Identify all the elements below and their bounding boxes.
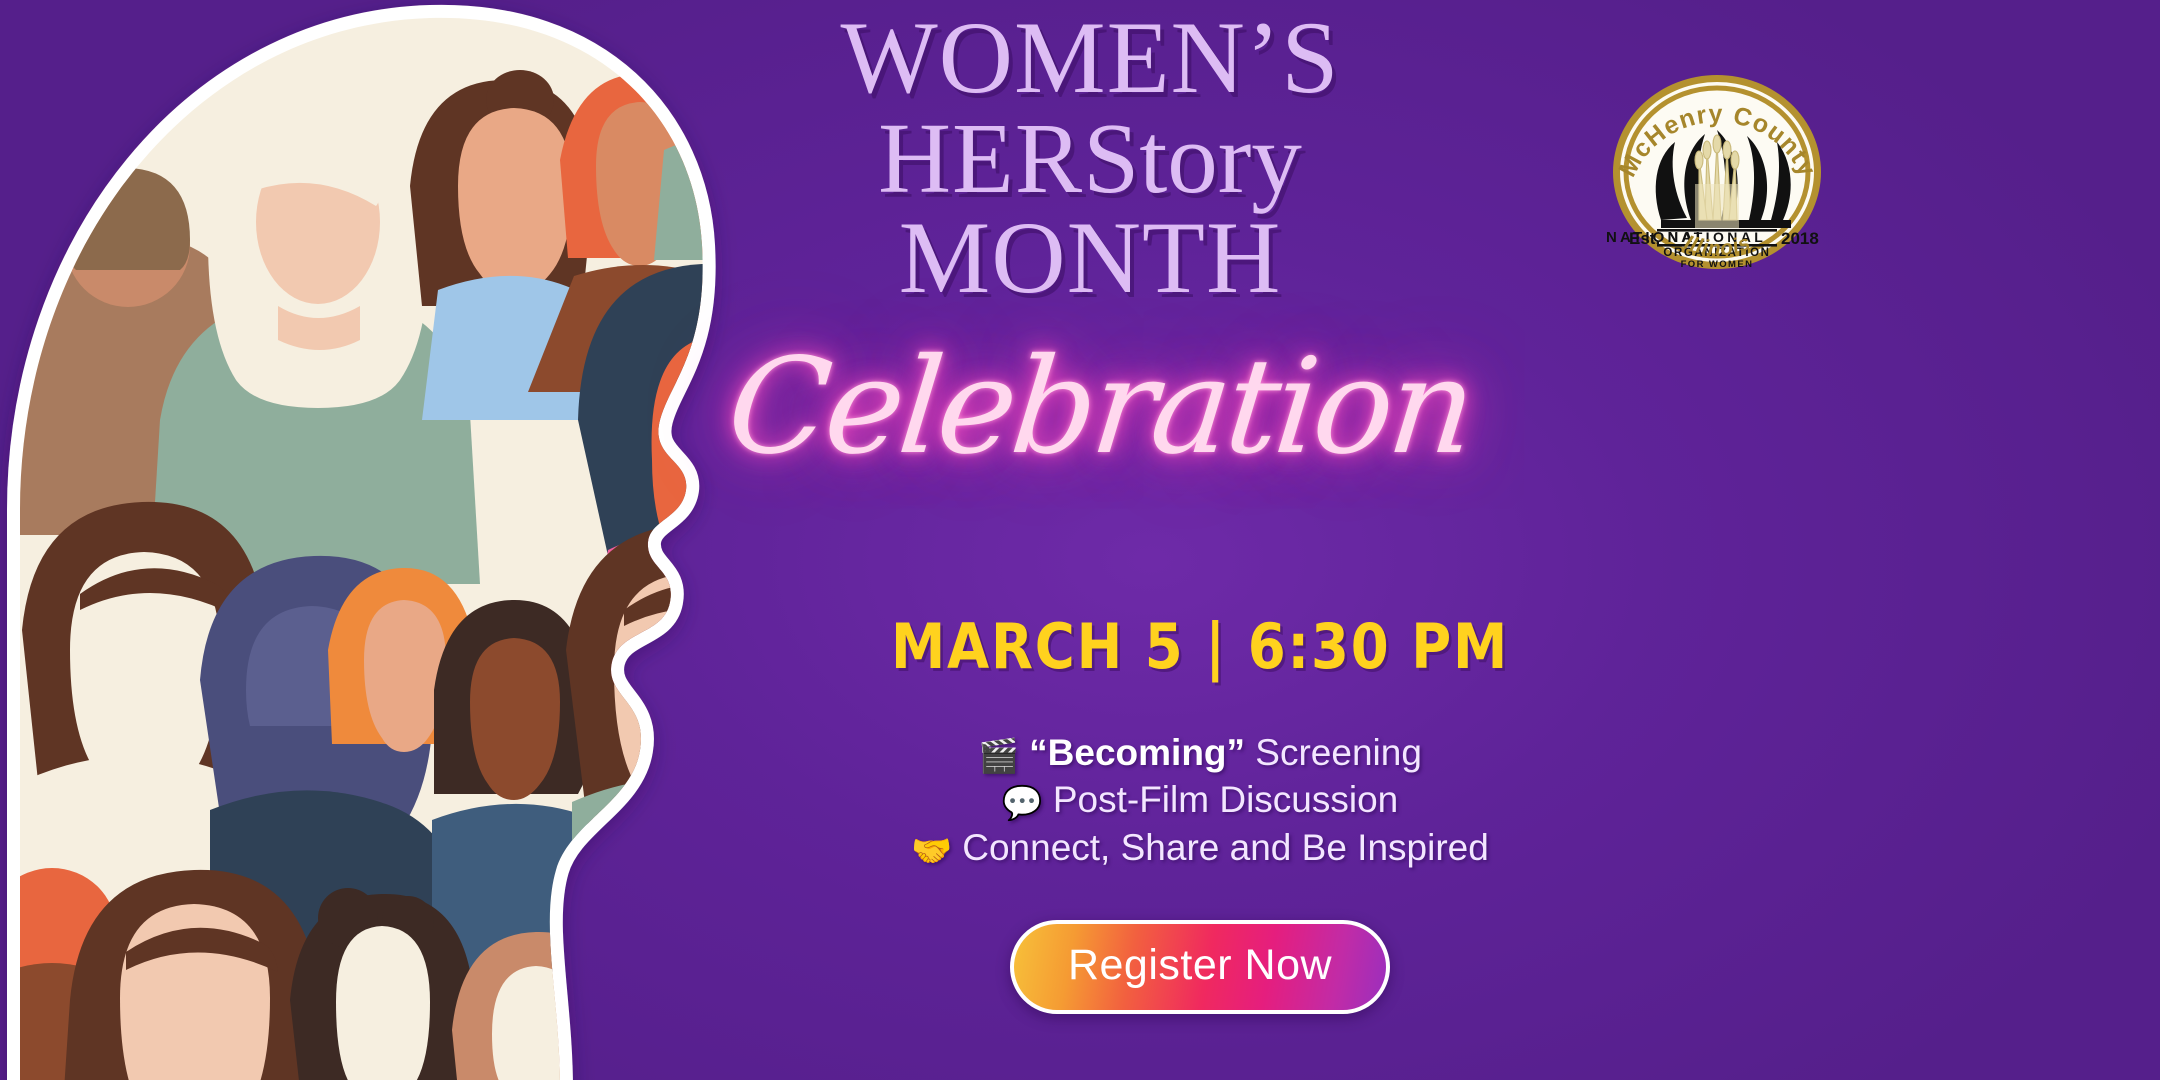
register-now-button[interactable]: Register Now: [1010, 920, 1390, 1014]
page-title: WOMEN’S HERStory MONTH: [580, 8, 1600, 309]
speech-balloon-icon: 💬: [1002, 784, 1043, 821]
list-item: 🤝Connect, Share and Be Inspired: [690, 825, 1710, 872]
event-highlights-list: 🎬“Becoming” Screening 💬Post-Film Discuss…: [690, 730, 1710, 872]
list-item: 🎬“Becoming” Screening: [690, 730, 1710, 777]
list-item-label: Connect, Share and Be Inspired: [962, 827, 1489, 868]
title-story: Story: [1083, 102, 1302, 214]
cta-container: Register Now: [690, 920, 1710, 1014]
handshake-icon: 🤝: [911, 832, 952, 869]
event-datetime: MARCH 5 | 6:30 PM: [751, 610, 1649, 683]
title-her: HER: [878, 102, 1083, 214]
list-item: 💬Post-Film Discussion: [690, 777, 1710, 824]
list-item-bold: “Becoming”: [1029, 732, 1245, 773]
title-line-3: MONTH: [580, 208, 1600, 309]
title-line-1: WOMEN’S: [580, 8, 1600, 109]
list-item-label: Post-Film Discussion: [1053, 779, 1398, 820]
list-item-label: Screening: [1245, 732, 1422, 773]
event-banner: McHenry County: [0, 0, 2160, 1080]
title-line-2: HERStory: [580, 109, 1600, 208]
clapper-board-icon: 🎬: [978, 737, 1019, 774]
celebration-script-text: Celebration: [532, 330, 1668, 484]
banner-text-column: WOMEN’S HERStory MONTH Celebration MARCH…: [580, 0, 2160, 1080]
